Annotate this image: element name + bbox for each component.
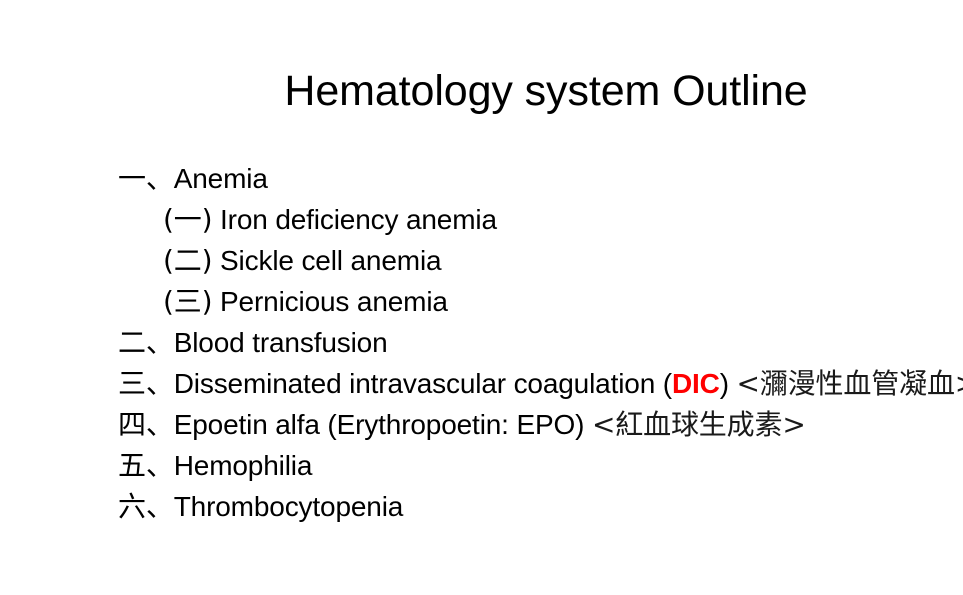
- list-item: (一) Iron deficiency anemia: [118, 199, 963, 240]
- list-item-enumerator: (三): [163, 285, 212, 318]
- list-item-enumerator: 一、: [118, 162, 174, 195]
- list-item-enumerator: 六、: [118, 490, 174, 523]
- outline-list: 一、Anemia (一) Iron deficiency anemia (二) …: [118, 158, 963, 527]
- list-item: 四、Epoetin alfa (Erythropoetin: EPO) <紅血球…: [118, 404, 963, 445]
- chinese-gloss: <紅血球生成素>: [592, 408, 806, 441]
- list-item: 六、Thrombocytopenia: [118, 486, 963, 527]
- list-item-label: Hemophilia: [174, 450, 313, 481]
- abbreviation-dic: DIC: [672, 368, 720, 399]
- list-item-label: Disseminated intravascular coagulation (: [174, 368, 672, 399]
- list-item-label: Thrombocytopenia: [174, 491, 404, 522]
- list-item-label: Blood transfusion: [174, 327, 388, 358]
- list-item-enumerator: 二、: [118, 326, 174, 359]
- list-item-enumerator: (一): [163, 203, 212, 236]
- list-item: 二、Blood transfusion: [118, 322, 963, 363]
- list-item-enumerator: (二): [163, 244, 212, 277]
- list-item-label: Iron deficiency anemia: [212, 204, 496, 235]
- list-item: (三) Pernicious anemia: [118, 281, 963, 322]
- list-item-enumerator: 四、: [118, 408, 174, 441]
- list-item: (二) Sickle cell anemia: [118, 240, 963, 281]
- list-item-label: Epoetin alfa (Erythropoetin: EPO): [174, 409, 592, 440]
- list-item-label: Anemia: [174, 163, 268, 194]
- list-item-label: Pernicious anemia: [212, 286, 447, 317]
- list-item: 五、Hemophilia: [118, 445, 963, 486]
- presentation-slide: Hematology system Outline 一、Anemia (一) I…: [0, 0, 963, 595]
- page-title: Hematology system Outline: [0, 66, 963, 117]
- list-item-enumerator: 五、: [118, 449, 174, 482]
- list-item: 三、Disseminated intravascular coagulation…: [118, 363, 963, 404]
- list-item-label: Sickle cell anemia: [212, 245, 441, 276]
- chinese-gloss: <瀰漫性血管凝血>: [737, 367, 963, 400]
- list-item-label-suffix: ): [720, 368, 737, 399]
- list-item: 一、Anemia: [118, 158, 963, 199]
- list-item-enumerator: 三、: [118, 367, 174, 400]
